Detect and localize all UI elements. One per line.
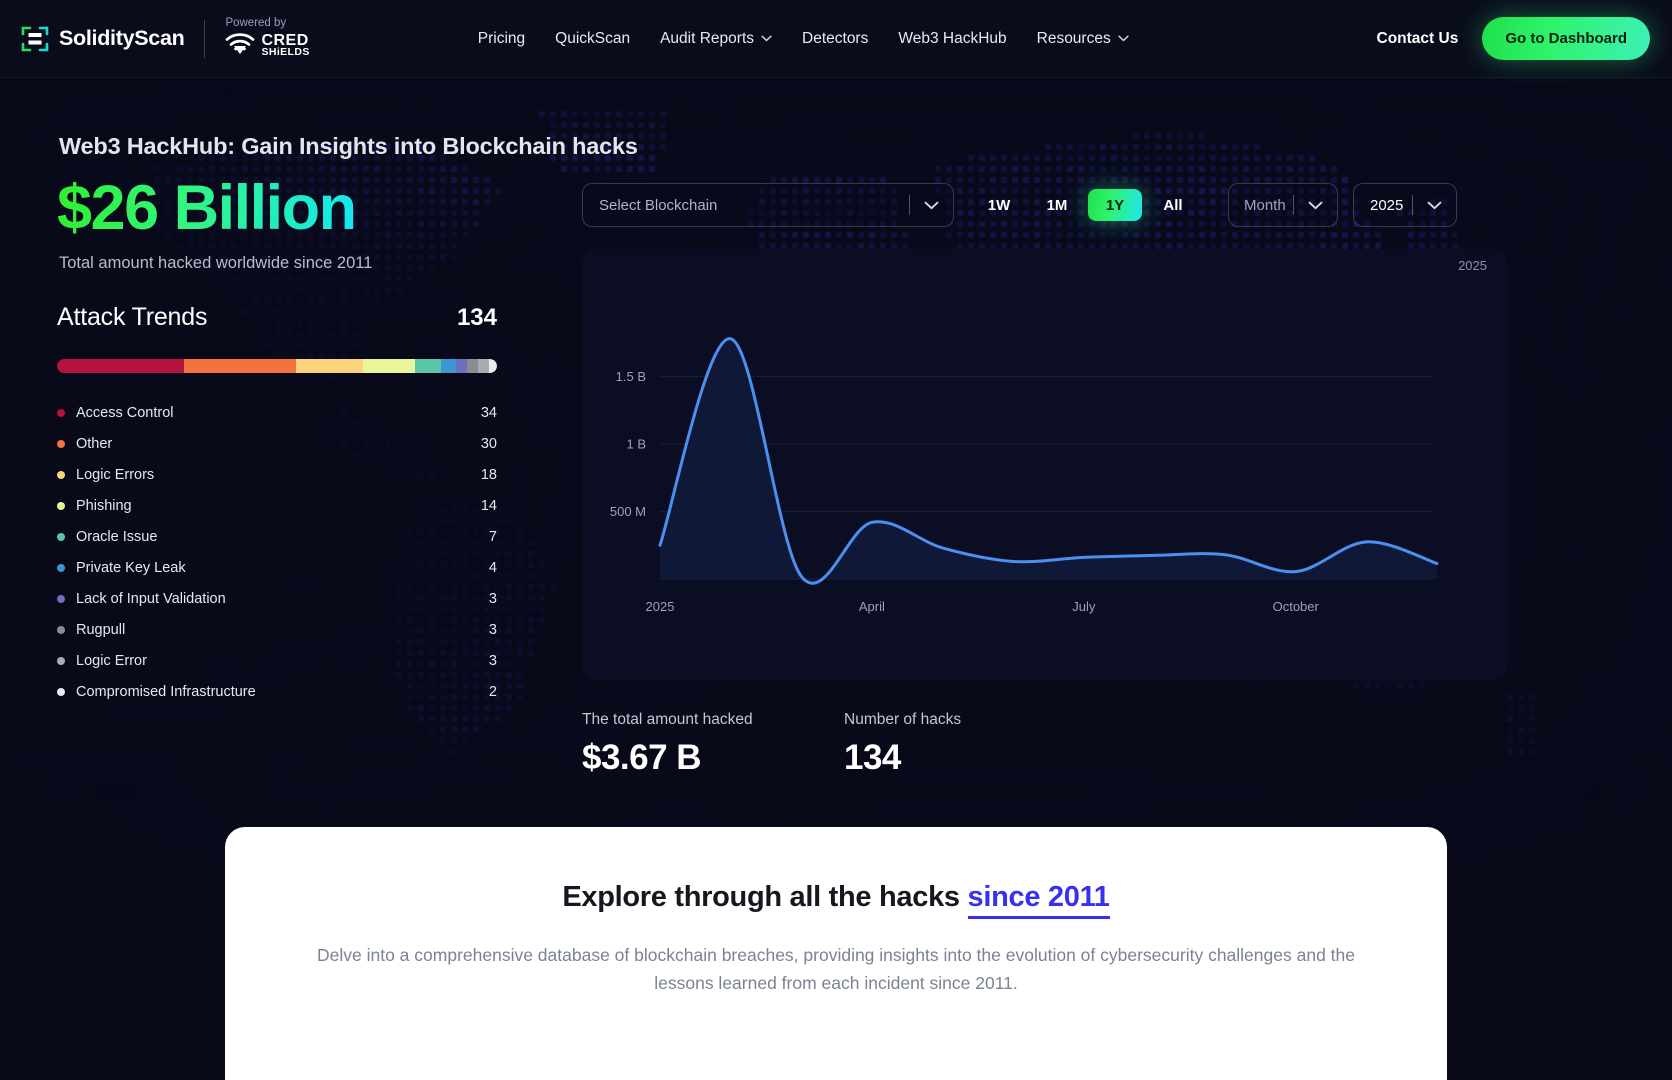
nav-label: Resources: [1037, 30, 1111, 48]
trend-color-dot: [57, 471, 65, 479]
page-title: Web3 HackHub: Gain Insights into Blockch…: [59, 133, 638, 160]
trend-bar-segment: [415, 359, 441, 373]
select-month-dropdown[interactable]: Month: [1228, 183, 1338, 227]
trend-list-item[interactable]: Access Control34: [57, 397, 497, 428]
stat-label: Number of hacks: [844, 711, 961, 729]
explore-section-card: Explore through all the hacks since 2011…: [225, 827, 1447, 1080]
trend-bar-segment: [184, 359, 296, 373]
chevron-down-icon: [1118, 35, 1129, 42]
trend-bar-segment: [363, 359, 415, 373]
trend-color-dot: [57, 626, 65, 634]
trend-count: 14: [481, 498, 497, 514]
explore-paragraph: Delve into a comprehensive database of b…: [306, 941, 1366, 998]
nav-label: Audit Reports: [660, 30, 754, 48]
chart-x-tick-label: October: [1273, 599, 1320, 614]
range-button-1m[interactable]: 1M: [1030, 189, 1084, 221]
trend-list-item[interactable]: Oracle Issue7: [57, 521, 497, 552]
chart-controls: Select Blockchain 1W 1M 1Y All Month 202…: [582, 183, 1457, 227]
stat-total-amount-hacked: The total amount hacked $3.67 B: [582, 711, 844, 778]
chevron-down-icon: [924, 201, 939, 210]
nav-audit-reports[interactable]: Audit Reports: [660, 30, 772, 48]
trend-color-dot: [57, 409, 65, 417]
attack-trends-title: Attack Trends: [57, 303, 207, 332]
select-year-value: 2025: [1354, 197, 1403, 214]
trend-list-item[interactable]: Rugpull3: [57, 614, 497, 645]
attack-trends-distribution-bar: [57, 359, 497, 373]
select-blockchain-dropdown[interactable]: Select Blockchain: [582, 183, 954, 227]
select-divider: [1412, 195, 1413, 215]
hacks-timeline-chart[interactable]: 2025 500 M1 B1.5 B2025AprilJulyOctober: [582, 249, 1507, 681]
nav-web3-hackhub[interactable]: Web3 HackHub: [898, 30, 1006, 48]
trend-count: 30: [481, 436, 497, 452]
trend-list-item[interactable]: Other30: [57, 428, 497, 459]
attack-trends-total: 134: [457, 304, 497, 332]
trend-bar-segment: [57, 359, 184, 373]
trend-label: Access Control: [76, 405, 174, 421]
trend-list-item[interactable]: Lack of Input Validation3: [57, 583, 497, 614]
range-button-all[interactable]: All: [1146, 189, 1200, 221]
brand-name: SolidityScan: [59, 26, 184, 51]
trend-count: 3: [489, 622, 497, 638]
nav-pricing[interactable]: Pricing: [478, 30, 525, 48]
chart-y-tick-label: 1 B: [626, 437, 646, 452]
trend-bar-segment: [441, 359, 456, 373]
chart-svg: 500 M1 B1.5 B2025AprilJulyOctober: [582, 249, 1507, 681]
stat-label: The total amount hacked: [582, 711, 844, 729]
trend-bar-segment: [456, 359, 467, 373]
time-range-group: 1W 1M 1Y All: [972, 189, 1200, 221]
trend-color-dot: [57, 502, 65, 510]
powered-by-group: Powered by CRED SHiELDS: [225, 17, 309, 61]
trend-label: Other: [76, 436, 112, 452]
trend-count: 7: [489, 529, 497, 545]
select-blockchain-placeholder: Select Blockchain: [583, 197, 717, 214]
main-navigation: Pricing QuickScan Audit Reports Detector…: [478, 30, 1129, 48]
chart-summary-stats: The total amount hacked $3.67 B Number o…: [582, 711, 961, 778]
trend-label: Logic Error: [76, 653, 147, 669]
trend-label: Rugpull: [76, 622, 125, 638]
trend-count: 2: [489, 684, 497, 700]
credshields-wifi-icon: [225, 31, 255, 60]
trend-count: 4: [489, 560, 497, 576]
trend-label: Private Key Leak: [76, 560, 186, 576]
trend-color-dot: [57, 595, 65, 603]
range-button-1w[interactable]: 1W: [972, 189, 1026, 221]
trend-label: Lack of Input Validation: [76, 591, 226, 607]
total-hacked-amount: $26 Billion: [57, 172, 356, 244]
solidityscan-logo-icon: [20, 24, 50, 54]
trend-color-dot: [57, 657, 65, 665]
hero-section: Web3 HackHub: Gain Insights into Blockch…: [0, 78, 1672, 888]
nav-label: QuickScan: [555, 30, 630, 48]
trend-bar-segment: [478, 359, 489, 373]
chevron-down-icon: [761, 35, 772, 42]
header-actions: Contact Us Go to Dashboard: [1377, 17, 1651, 60]
attack-trends-list: Access Control34Other30Logic Errors18Phi…: [57, 397, 497, 707]
trend-color-dot: [57, 688, 65, 696]
trend-list-item[interactable]: Compromised Infrastructure2: [57, 676, 497, 707]
trend-list-item[interactable]: Logic Errors18: [57, 459, 497, 490]
trend-label: Phishing: [76, 498, 132, 514]
header-divider: [204, 20, 205, 58]
stat-value: $3.67 B: [582, 738, 844, 778]
chart-x-tick-label: April: [859, 599, 885, 614]
total-hacked-subtitle: Total amount hacked worldwide since 2011: [59, 254, 372, 273]
explore-title-prefix: Explore through all the hacks: [562, 881, 967, 913]
chevron-down-icon: [1427, 201, 1442, 210]
trend-label: Oracle Issue: [76, 529, 157, 545]
explore-title: Explore through all the hacks since 2011: [225, 881, 1447, 914]
select-divider: [909, 195, 910, 215]
go-to-dashboard-button[interactable]: Go to Dashboard: [1482, 17, 1650, 60]
nav-label: Pricing: [478, 30, 525, 48]
trend-count: 34: [481, 405, 497, 421]
nav-resources[interactable]: Resources: [1037, 30, 1129, 48]
select-month-value: Month: [1229, 197, 1286, 214]
trend-bar-segment: [489, 359, 496, 373]
chart-y-tick-label: 1.5 B: [616, 369, 646, 384]
trend-list-item[interactable]: Phishing14: [57, 490, 497, 521]
trend-label: Logic Errors: [76, 467, 154, 483]
select-divider: [1293, 195, 1294, 215]
trend-color-dot: [57, 533, 65, 541]
powered-by-label: Powered by: [225, 17, 309, 30]
explore-since-2011-link[interactable]: since 2011: [968, 881, 1110, 919]
nav-label: Web3 HackHub: [898, 30, 1006, 48]
trend-color-dot: [57, 564, 65, 572]
chart-y-tick-label: 500 M: [610, 504, 646, 519]
chart-x-tick-label: 2025: [646, 599, 675, 614]
chevron-down-icon: [1308, 201, 1323, 210]
site-header: SolidityScan Powered by CRED SHiELDS Pri…: [0, 0, 1672, 78]
select-year-dropdown[interactable]: 2025: [1353, 183, 1457, 227]
trend-count: 18: [481, 467, 497, 483]
trend-list-item[interactable]: Logic Error3: [57, 645, 497, 676]
trend-bar-segment: [467, 359, 478, 373]
nav-quickscan[interactable]: QuickScan: [555, 30, 630, 48]
trend-bar-segment: [296, 359, 363, 373]
nav-label: Detectors: [802, 30, 868, 48]
nav-detectors[interactable]: Detectors: [802, 30, 868, 48]
trend-color-dot: [57, 440, 65, 448]
attack-trends-header: Attack Trends 134: [57, 303, 497, 332]
trend-count: 3: [489, 591, 497, 607]
trend-list-item[interactable]: Private Key Leak4: [57, 552, 497, 583]
range-button-1y[interactable]: 1Y: [1088, 189, 1142, 221]
chart-x-tick-label: July: [1072, 599, 1096, 614]
credshields-name-line2: SHiELDS: [261, 48, 309, 58]
contact-us-link[interactable]: Contact Us: [1377, 30, 1459, 48]
stat-number-of-hacks: Number of hacks 134: [844, 711, 961, 778]
stat-value: 134: [844, 738, 961, 778]
logo-group[interactable]: SolidityScan: [20, 24, 184, 54]
trend-count: 3: [489, 653, 497, 669]
trend-label: Compromised Infrastructure: [76, 684, 256, 700]
chart-area-fill: [660, 339, 1437, 584]
